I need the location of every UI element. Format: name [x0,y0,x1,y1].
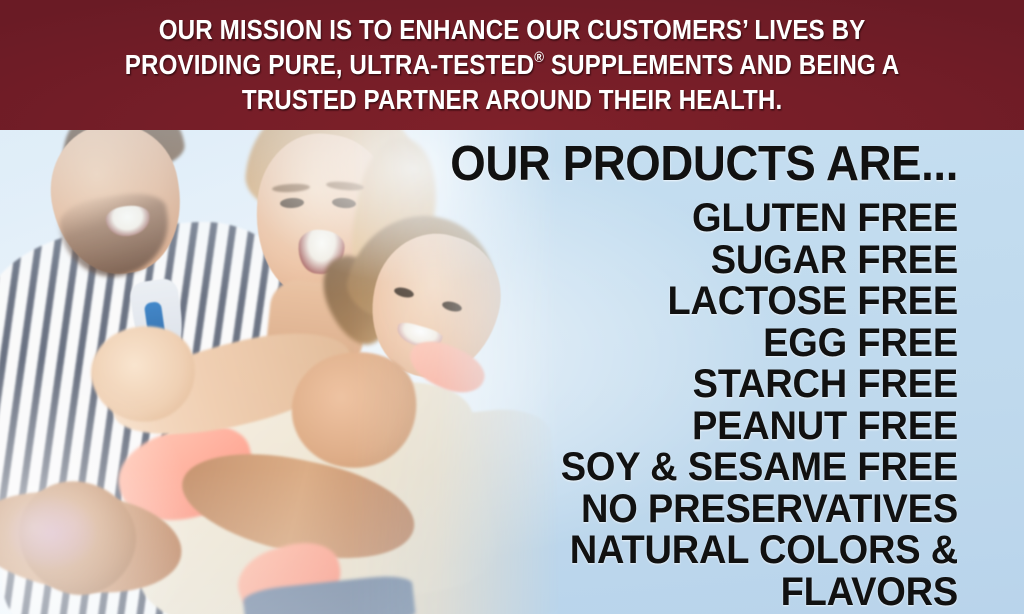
benefit-item: FLAVORS [388,572,958,614]
mission-line-3: TRUSTED PARTNER AROUND THEIR HEALTH. [125,82,900,117]
mission-line-2-text: PROVIDING PURE, ULTRA-TESTED [125,49,534,80]
products-panel: OUR PRODUCTS ARE... GLUTEN FREE SUGAR FR… [358,138,958,613]
mission-line-1: OUR MISSION IS TO ENHANCE OUR CUSTOMERS’… [125,12,900,47]
mission-poster: OUR MISSION IS TO ENHANCE OUR CUSTOMERS’… [0,0,1024,614]
benefit-item: LACTOSE FREE [388,281,958,323]
mission-banner: OUR MISSION IS TO ENHANCE OUR CUSTOMERS’… [0,0,1024,130]
benefit-item: SUGAR FREE [388,240,958,282]
benefit-item: NO PRESERVATIVES [388,489,958,531]
benefit-item: EGG FREE [388,323,958,365]
benefit-item: NATURAL COLORS & [388,530,958,572]
mission-line-2-tail: SUPPLEMENTS AND BEING A [544,49,899,80]
benefit-item: PEANUT FREE [388,406,958,448]
mission-statement: OUR MISSION IS TO ENHANCE OUR CUSTOMERS’… [118,12,907,117]
registered-trademark-icon: ® [534,49,544,66]
mission-line-2: PROVIDING PURE, ULTRA-TESTED® SUPPLEMENT… [125,47,900,82]
benefit-item: SOY & SESAME FREE [388,447,958,489]
products-heading: OUR PRODUCTS ARE... [400,138,958,190]
benefit-item: GLUTEN FREE [388,198,958,240]
benefit-item: STARCH FREE [388,364,958,406]
product-benefits-list: GLUTEN FREE SUGAR FREE LACTOSE FREE EGG … [358,198,958,613]
